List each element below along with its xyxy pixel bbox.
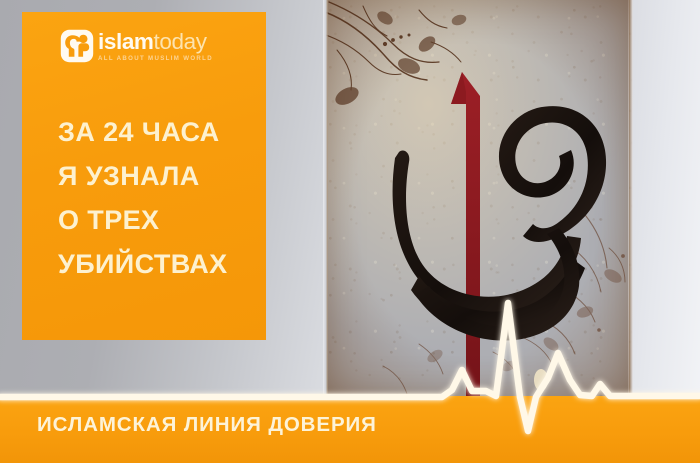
brand-name: islamtoday bbox=[98, 30, 248, 54]
artwork-vector-layer bbox=[323, 0, 633, 400]
calligraphy-artwork bbox=[323, 0, 633, 400]
brand-wordmark: islamtoday ALL ABOUT MUSLIM WORLD bbox=[98, 30, 248, 62]
brand-logo[interactable]: islamtoday ALL ABOUT MUSLIM WORLD bbox=[60, 28, 246, 68]
brand-tagline: ALL ABOUT MUSLIM WORLD bbox=[98, 55, 248, 62]
brand-name-bold: islam bbox=[98, 29, 154, 54]
brand-name-light: today bbox=[154, 29, 207, 54]
parchment-dot bbox=[534, 369, 548, 391]
canvas-right-edge bbox=[629, 0, 633, 400]
headline-line-2: Я УЗНАЛА bbox=[58, 154, 274, 198]
headline-line-4: УБИЙСТВАХ bbox=[58, 242, 274, 286]
poster-root: islamtoday ALL ABOUT MUSLIM WORLD ЗА 24 … bbox=[0, 0, 700, 463]
footer-title: ИСЛАМСКАЯ ЛИНИЯ ДОВЕРИЯ bbox=[37, 413, 377, 437]
background-right-panel bbox=[628, 0, 700, 463]
headline-line-3: О ТРЕХ bbox=[58, 198, 274, 242]
canvas-left-edge bbox=[323, 0, 328, 400]
headline-line-1: ЗА 24 ЧАСА bbox=[58, 110, 274, 154]
headline-text-block: ЗА 24 ЧАСА Я УЗНАЛА О ТРЕХ УБИЙСТВАХ bbox=[58, 110, 274, 286]
islamtoday-logo-icon bbox=[60, 29, 94, 63]
headline-panel: islamtoday ALL ABOUT MUSLIM WORLD ЗА 24 … bbox=[22, 12, 266, 340]
